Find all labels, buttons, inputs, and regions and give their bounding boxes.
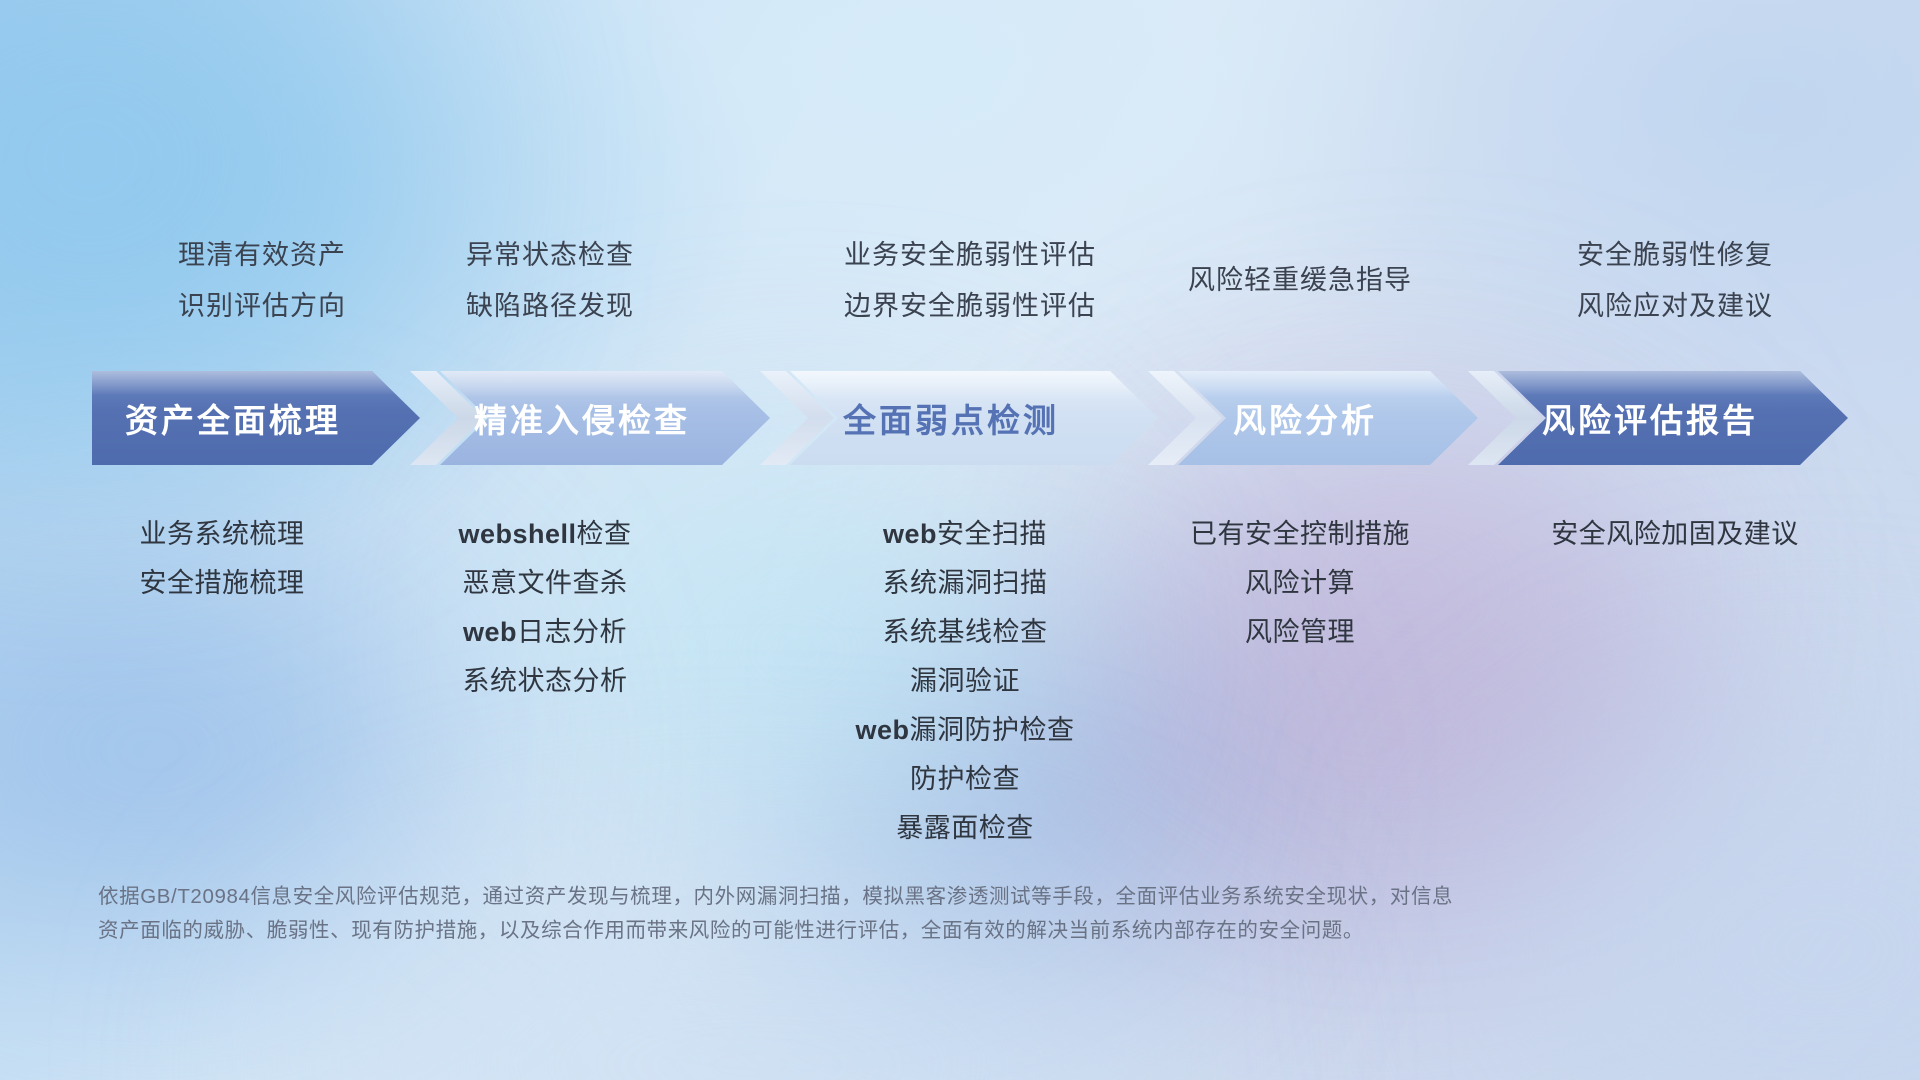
stage-arrow-intrusion-check[interactable]: 精准入侵检查 [440,371,770,465]
bottom-label: 系统基线检查 [780,608,1150,657]
top-label: 风险轻重缓急指导 [1120,255,1480,306]
bottom-label-rest: 系统状态分析 [463,666,628,696]
stage-arrow-label: 全面弱点检测 [843,394,1059,442]
bottom-label-rest: 恶意文件查杀 [463,568,628,598]
bottom-label-rest: 业务系统梳理 [140,519,305,549]
bottom-label-rest: 系统基线检查 [883,617,1048,647]
top-labels-weakness-detection: 业务安全脆弱性评估 边界安全脆弱性评估 [770,230,1170,332]
bottom-label: 恶意文件查杀 [395,559,695,608]
bottom-label-rest: 漏洞验证 [910,666,1020,696]
bottom-label-rest: 漏洞防护检查 [910,715,1075,745]
bottom-label-rest: 日志分析 [517,617,627,647]
bottom-label: 风险管理 [1140,608,1460,657]
bottom-label: 安全风险加固及建议 [1475,510,1875,559]
bottom-label: 暴露面检查 [780,804,1150,853]
top-label: 缺陷路径发现 [380,281,720,332]
top-label: 理清有效资产 [92,230,432,281]
bottom-labels-asset-inventory: 业务系统梳理 安全措施梳理 [52,510,392,608]
stage-arrow-label: 风险分析 [1233,394,1377,442]
bottom-labels-intrusion-check: webshell检查 恶意文件查杀 web日志分析 系统状态分析 [395,510,695,706]
stage-arrow-label: 资产全面梳理 [125,394,341,442]
bottom-label-rest: 防护检查 [910,764,1020,794]
bottom-label-rest: 暴露面检查 [896,813,1034,843]
bottom-label: 已有安全控制措施 [1140,510,1460,559]
top-label: 异常状态检查 [380,230,720,281]
bottom-label: 风险计算 [1140,559,1460,608]
bottom-label-rest: 风险计算 [1245,568,1355,598]
bottom-label-rest: 安全扫描 [937,519,1047,549]
footer-line-2: 资产面临的威胁、脆弱性、现有防护措施，以及综合作用而带来风险的可能性进行评估，全… [98,914,1618,948]
bottom-label: webshell检查 [395,510,695,559]
bottom-label-rest: 已有安全控制措施 [1190,519,1410,549]
top-labels-risk-analysis: 风险轻重缓急指导 [1120,255,1480,306]
top-label: 识别评估方向 [92,281,432,332]
bottom-label-rest: 系统漏洞扫描 [883,568,1048,598]
bottom-labels-risk-report: 安全风险加固及建议 [1475,510,1875,559]
top-labels-risk-report: 安全脆弱性修复 风险应对及建议 [1500,230,1850,332]
bottom-label: web日志分析 [395,608,695,657]
bottom-label: 安全措施梳理 [52,559,392,608]
top-label: 边界安全脆弱性评估 [770,281,1170,332]
stage-arrow-label: 风险评估报告 [1542,394,1758,442]
bottom-label: 系统状态分析 [395,657,695,706]
stage-arrow-label: 精准入侵检查 [474,394,690,442]
top-label: 安全脆弱性修复 [1500,230,1850,281]
stage-arrow-risk-report[interactable]: 风险评估报告 [1498,371,1848,465]
top-labels-intrusion-check: 异常状态检查 缺陷路径发现 [380,230,720,332]
bottom-label-bold: webshell [458,519,576,549]
bottom-label-rest: 安全措施梳理 [140,568,305,598]
stage-arrow-weakness-detection[interactable]: 全面弱点检测 [790,371,1158,465]
stage-arrow-risk-analysis[interactable]: 风险分析 [1178,371,1478,465]
bottom-label: 系统漏洞扫描 [780,559,1150,608]
footer-line-1: 依据GB/T20984信息安全风险评估规范，通过资产发现与梳理，内外网漏洞扫描，… [98,880,1618,914]
bottom-label-rest: 检查 [577,519,632,549]
bottom-label-bold: web [463,617,517,647]
top-label: 业务安全脆弱性评估 [770,230,1170,281]
bottom-label: web安全扫描 [780,510,1150,559]
bottom-label: web漏洞防护检查 [780,706,1150,755]
top-labels-asset-inventory: 理清有效资产 识别评估方向 [92,230,432,332]
bottom-label-rest: 安全风险加固及建议 [1551,519,1799,549]
bottom-labels-weakness-detection: web安全扫描 系统漏洞扫描 系统基线检查 漏洞验证 web漏洞防护检查 防护检… [780,510,1150,853]
bottom-label: 防护检查 [780,755,1150,804]
bottom-labels-risk-analysis: 已有安全控制措施 风险计算 风险管理 [1140,510,1460,657]
footer-description: 依据GB/T20984信息安全风险评估规范，通过资产发现与梳理，内外网漏洞扫描，… [98,880,1618,948]
bottom-label-bold: web [855,715,909,745]
process-diagram: 理清有效资产 识别评估方向 异常状态检查 缺陷路径发现 业务安全脆弱性评估 边界… [0,0,1920,1080]
top-label: 风险应对及建议 [1500,281,1850,332]
bottom-label: 业务系统梳理 [52,510,392,559]
bottom-label: 漏洞验证 [780,657,1150,706]
stage-arrow-asset-inventory[interactable]: 资产全面梳理 [92,371,420,465]
process-arrow-banner: 资产全面梳理 精准入侵检查 全面弱点检测 风险 [92,371,1848,465]
bottom-label-rest: 风险管理 [1245,617,1355,647]
bottom-label-bold: web [883,519,937,549]
